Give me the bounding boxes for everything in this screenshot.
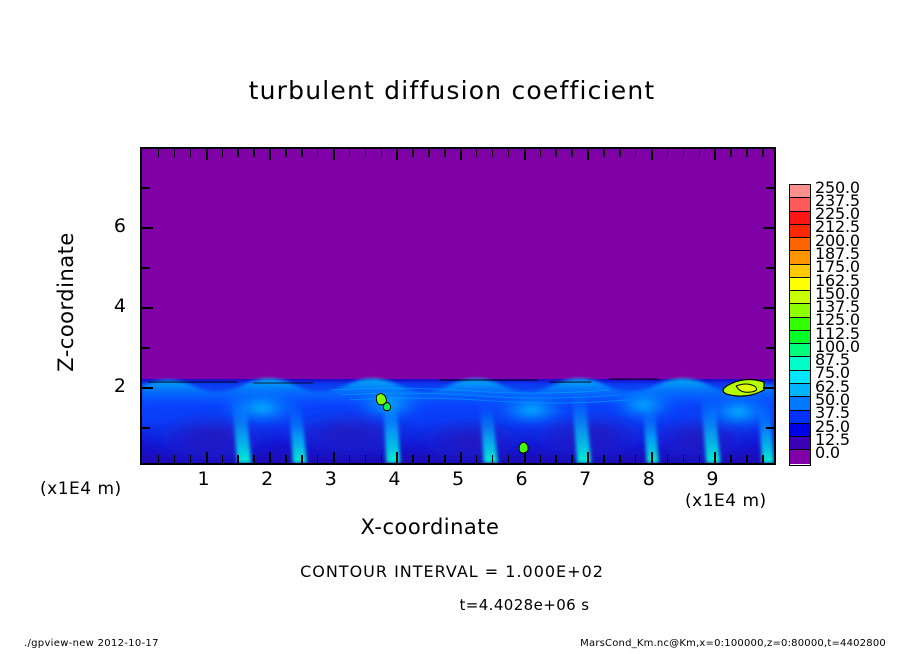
x-tick [635,455,637,463]
x-tick [683,455,685,463]
colorbar-band [790,437,810,450]
x-tick-top [555,149,557,157]
y-tick-right [766,427,774,429]
y-tick-right-major [763,227,774,229]
x-tick-top [428,149,430,157]
x-tick-top [619,149,621,157]
x-tick-label: 3 [311,468,351,490]
x-tick-major [651,452,653,463]
x-tick-top [174,149,176,157]
colorbar-band [790,185,810,198]
x-tick-top [571,149,573,157]
x-tick [301,455,303,463]
colorbar-band [790,371,810,384]
colorbar-band [790,304,810,317]
x-tick [174,455,176,463]
x-tick-top-major [396,149,398,160]
x-tick-top [508,149,510,157]
x-tick-top [746,149,748,157]
y-axis-title: Z-coordinate [54,192,78,412]
x-tick [365,455,367,463]
x-tick-label: 6 [502,468,542,490]
x-tick [492,455,494,463]
colorbar-band [790,397,810,410]
page-title: turbulent diffusion coefficient [0,76,904,105]
x-tick-top [317,149,319,157]
x-unit-left-label: (x1E4 m) [40,479,122,499]
x-tick-top [492,149,494,157]
colorbar [789,184,811,466]
x-tick-top-major [714,149,716,160]
x-tick-top-major [269,149,271,160]
colorbar-band [790,278,810,291]
x-tick-label: 9 [692,468,732,490]
x-tick-top [222,149,224,157]
colorbar-band [790,331,810,344]
x-tick [253,455,255,463]
x-tick-top-major [651,149,653,160]
x-tick-label: 4 [374,468,414,490]
x-tick-top [540,149,542,157]
x-tick-top [381,149,383,157]
y-tick-right [766,347,774,349]
x-tick-top-major [460,149,462,160]
x-tick-top [285,149,287,157]
x-tick-top-major [587,149,589,160]
colorbar-band [790,424,810,437]
footer-source-label: MarsCond_Km.nc@Km,x=0:100000,z=0:80000,t… [580,638,886,649]
colorbar-band [790,291,810,304]
x-tick-top [762,149,764,157]
turbulence-field [142,149,774,463]
x-tick [285,455,287,463]
x-tick-major [269,452,271,463]
x-tick [746,455,748,463]
colorbar-band [790,450,810,463]
x-tick-major [206,452,208,463]
x-tick [428,455,430,463]
colorbar-band [790,357,810,370]
x-tick-major [524,452,526,463]
colorbar-band [790,318,810,331]
x-tick-top-major [206,149,208,160]
x-tick-top-major [524,149,526,160]
colorbar-band [790,411,810,424]
colorbar-tick-label: 0.0 [815,443,840,462]
x-tick [508,455,510,463]
y-tick-major [142,387,153,389]
x-tick [555,455,557,463]
colorbar-band [790,251,810,264]
colorbar-band [790,212,810,225]
colorbar-band [790,344,810,357]
x-tick-top [683,149,685,157]
footer-command-label: ./gpview-new 2012-10-17 [24,638,159,649]
contour-plot-area [140,147,776,465]
x-tick [540,455,542,463]
x-tick [762,455,764,463]
y-tick-label: 2 [96,375,126,397]
x-tick-top [603,149,605,157]
x-tick [667,455,669,463]
y-tick [142,187,150,189]
x-tick-top [730,149,732,157]
y-tick-label: 6 [96,215,126,237]
x-tick [699,455,701,463]
x-tick-top [635,149,637,157]
x-tick-label: 8 [629,468,669,490]
y-tick-major [142,307,153,309]
y-tick [142,267,150,269]
x-tick-label: 1 [184,468,224,490]
colorbar-band [790,384,810,397]
x-tick-top [444,149,446,157]
x-tick [444,455,446,463]
x-tick-top [237,149,239,157]
x-tick [222,455,224,463]
x-tick-top [699,149,701,157]
colorbar-band [790,265,810,278]
x-tick-major [714,452,716,463]
x-tick [603,455,605,463]
plot-canvas: turbulent diffusion coefficient [0,0,904,654]
x-tick-top [158,149,160,157]
colorbar-band [790,238,810,251]
x-tick-major [587,452,589,463]
x-axis-title: X-coordinate [220,515,640,539]
x-tick-top-major [333,149,335,160]
y-tick-right-major [763,387,774,389]
contour-interval-label: CONTOUR INTERVAL = 1.000E+02 [0,562,904,581]
x-tick [476,455,478,463]
y-tick [142,347,150,349]
x-tick [317,455,319,463]
x-tick-label: 5 [438,468,478,490]
x-tick [190,455,192,463]
y-tick-right [766,267,774,269]
x-tick-top [412,149,414,157]
x-tick [730,455,732,463]
x-tick [158,455,160,463]
y-tick-right-major [763,307,774,309]
y-tick [142,427,150,429]
y-tick-label: 4 [96,295,126,317]
x-tick [412,455,414,463]
time-stamp-label: t=4.4028e+06 s [0,596,904,614]
colorbar-band [790,198,810,211]
x-tick-top [365,149,367,157]
x-tick-top [349,149,351,157]
x-tick [571,455,573,463]
x-tick-top [190,149,192,157]
x-tick-label: 7 [565,468,605,490]
y-tick-major [142,227,153,229]
x-tick-label: 2 [247,468,287,490]
x-tick [349,455,351,463]
x-tick-major [460,452,462,463]
x-tick-top [301,149,303,157]
y-tick-right [766,187,774,189]
x-tick-top [476,149,478,157]
x-tick-major [333,452,335,463]
x-tick-top [253,149,255,157]
x-unit-right-label: (x1E4 m) [685,491,767,511]
x-tick-top [667,149,669,157]
x-tick [237,455,239,463]
x-tick-major [396,452,398,463]
colorbar-band [790,225,810,238]
x-tick [619,455,621,463]
x-tick [381,455,383,463]
